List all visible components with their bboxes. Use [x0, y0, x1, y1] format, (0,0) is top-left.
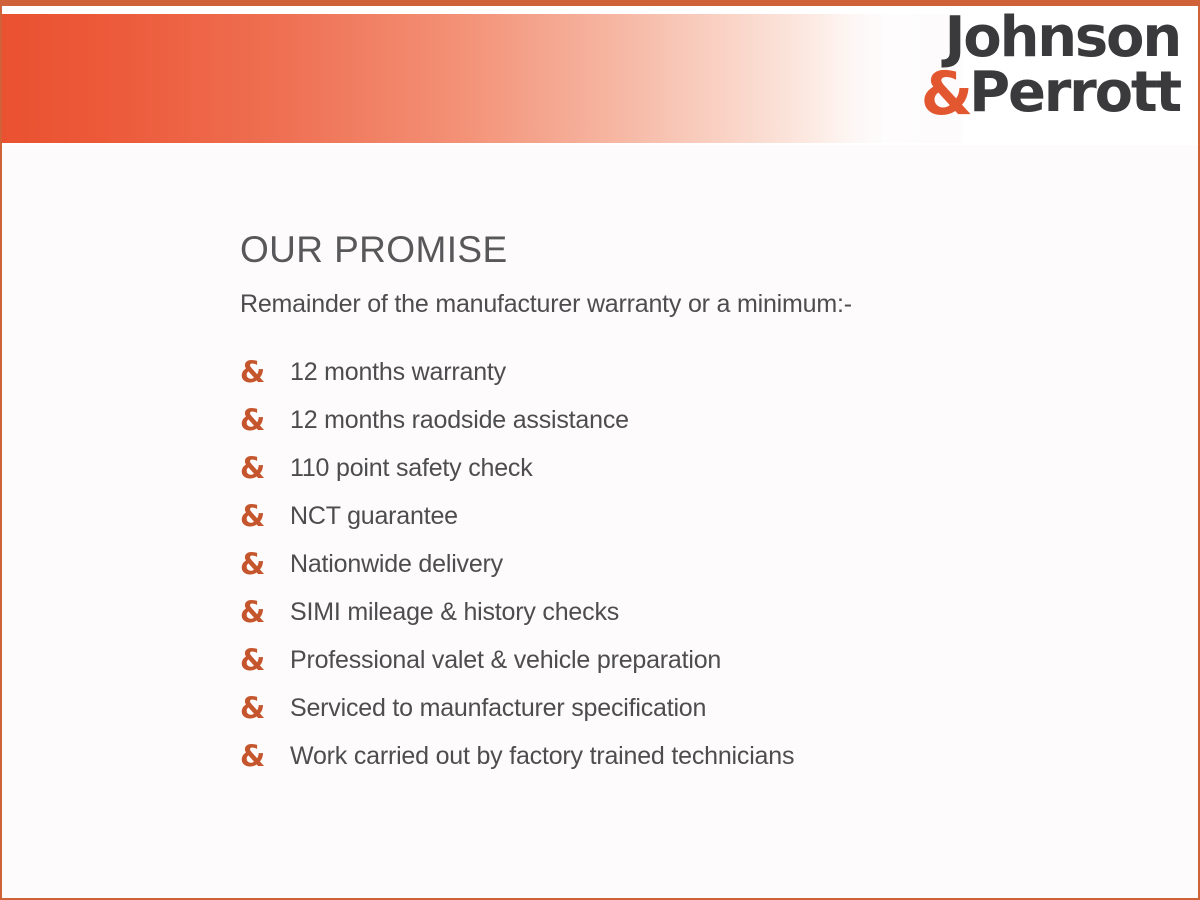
list-item: & 12 months raodside assistance — [240, 397, 1160, 445]
list-item: & SIMI mileage & history checks — [240, 589, 1160, 637]
page-title: OUR PROMISE — [240, 230, 1160, 271]
list-item-label: Serviced to maunfacturer specification — [290, 695, 706, 723]
list-item-label: Nationwide delivery — [290, 551, 503, 579]
list-item-label: 110 point safety check — [290, 455, 533, 483]
list-item: & Serviced to maunfacturer specification — [240, 685, 1160, 733]
promise-slide: Johnson &Perrott OUR PROMISE Remainder o… — [0, 0, 1200, 900]
list-item: & Nationwide delivery — [240, 541, 1160, 589]
list-item-label: 12 months warranty — [290, 359, 506, 387]
list-item-label: NCT guarantee — [290, 503, 458, 531]
logo-ampersand-icon: & — [921, 59, 969, 129]
header-gradient-band — [2, 14, 882, 143]
list-item: & 110 point safety check — [240, 445, 1160, 493]
list-item: & NCT guarantee — [240, 493, 1160, 541]
ampersand-bullet-icon: & — [240, 502, 290, 531]
logo-line-perrott: &Perrott — [890, 64, 1180, 126]
ampersand-bullet-icon: & — [240, 454, 290, 483]
ampersand-bullet-icon: & — [240, 406, 290, 435]
promise-subtitle: Remainder of the manufacturer warranty o… — [240, 289, 1160, 319]
promise-content: OUR PROMISE Remainder of the manufacture… — [240, 230, 1160, 781]
logo-text-perrott: Perrott — [969, 60, 1180, 125]
list-item-label: Work carried out by factory trained tech… — [290, 743, 794, 771]
list-item-label: 12 months raodside assistance — [290, 407, 629, 435]
ampersand-bullet-icon: & — [240, 646, 290, 675]
ampersand-bullet-icon: & — [240, 550, 290, 579]
list-item: & Professional valet & vehicle preparati… — [240, 637, 1160, 685]
johnson-perrott-logo: Johnson &Perrott — [890, 10, 1180, 135]
list-item-label: SIMI mileage & history checks — [290, 599, 619, 627]
header: Johnson &Perrott — [2, 2, 1200, 145]
list-item-label: Professional valet & vehicle preparation — [290, 647, 721, 675]
list-item: & Work carried out by factory trained te… — [240, 733, 1160, 781]
ampersand-bullet-icon: & — [240, 598, 290, 627]
ampersand-bullet-icon: & — [240, 358, 290, 387]
promise-list: & 12 months warranty & 12 months raodsid… — [240, 349, 1160, 781]
ampersand-bullet-icon: & — [240, 694, 290, 723]
ampersand-bullet-icon: & — [240, 742, 290, 771]
list-item: & 12 months warranty — [240, 349, 1160, 397]
